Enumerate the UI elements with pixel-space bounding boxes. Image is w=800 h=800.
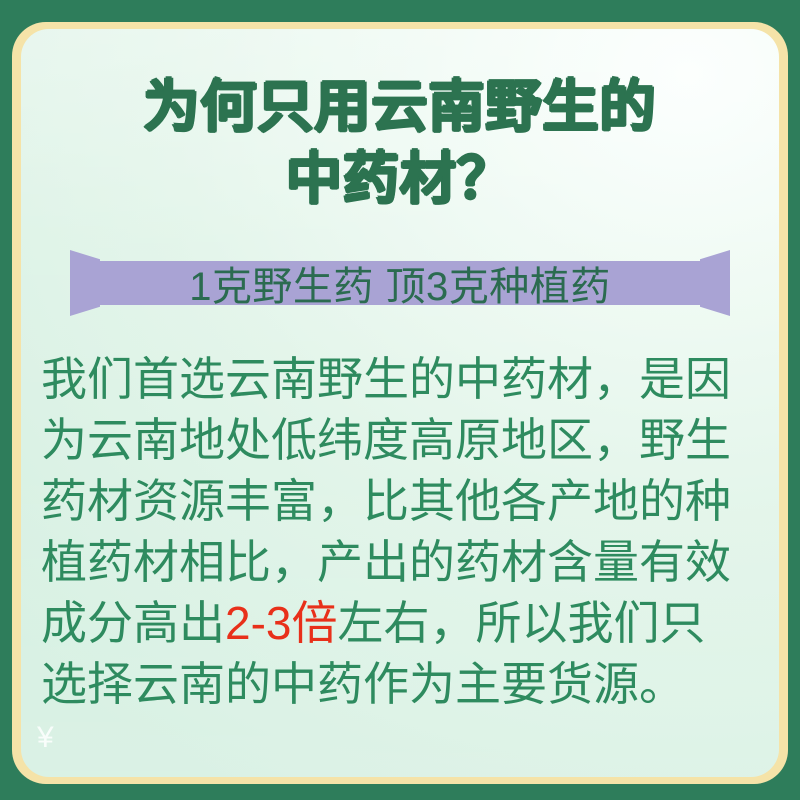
body-line-5-pre: 成分高出: [41, 597, 225, 649]
body-line-2: 为云南地处低纬度高原地区，野生: [41, 410, 763, 471]
body-line-6: 选择云南的中药作为主要货源。: [41, 654, 763, 715]
body-paragraph: 我们首选云南野生的中药材，是因 为云南地处低纬度高原地区，野生 药材资源丰富，比…: [41, 349, 763, 715]
body-line-4: 植药材相比，产出的药材含量有效: [41, 532, 763, 593]
body-line-5-post: 左右，所以我们只: [337, 597, 705, 649]
content-card: 为何只用云南野生的 中药材？ 1克野生药 顶3克种植药 我们首选云南野生的中药材…: [21, 29, 779, 777]
infographic-card-page: 为何只用云南野生的 中药材？ 1克野生药 顶3克种植药 我们首选云南野生的中药材…: [0, 0, 800, 800]
page-title: 为何只用云南野生的 中药材？: [21, 71, 779, 215]
body-highlight-multiplier: 2-3倍: [225, 597, 337, 649]
yen-currency-icon: ¥: [37, 723, 54, 753]
body-line-3: 药材资源丰富，比其他各产地的种: [41, 471, 763, 532]
title-line-1: 为何只用云南野生的: [21, 71, 779, 143]
highlight-banner: 1克野生药 顶3克种植药: [70, 250, 730, 316]
banner-label: 1克野生药 顶3克种植药: [70, 250, 730, 316]
body-line-5: 成分高出2-3倍左右，所以我们只: [41, 593, 763, 654]
title-line-2: 中药材？: [21, 143, 779, 215]
body-line-1: 我们首选云南野生的中药材，是因: [41, 349, 763, 410]
